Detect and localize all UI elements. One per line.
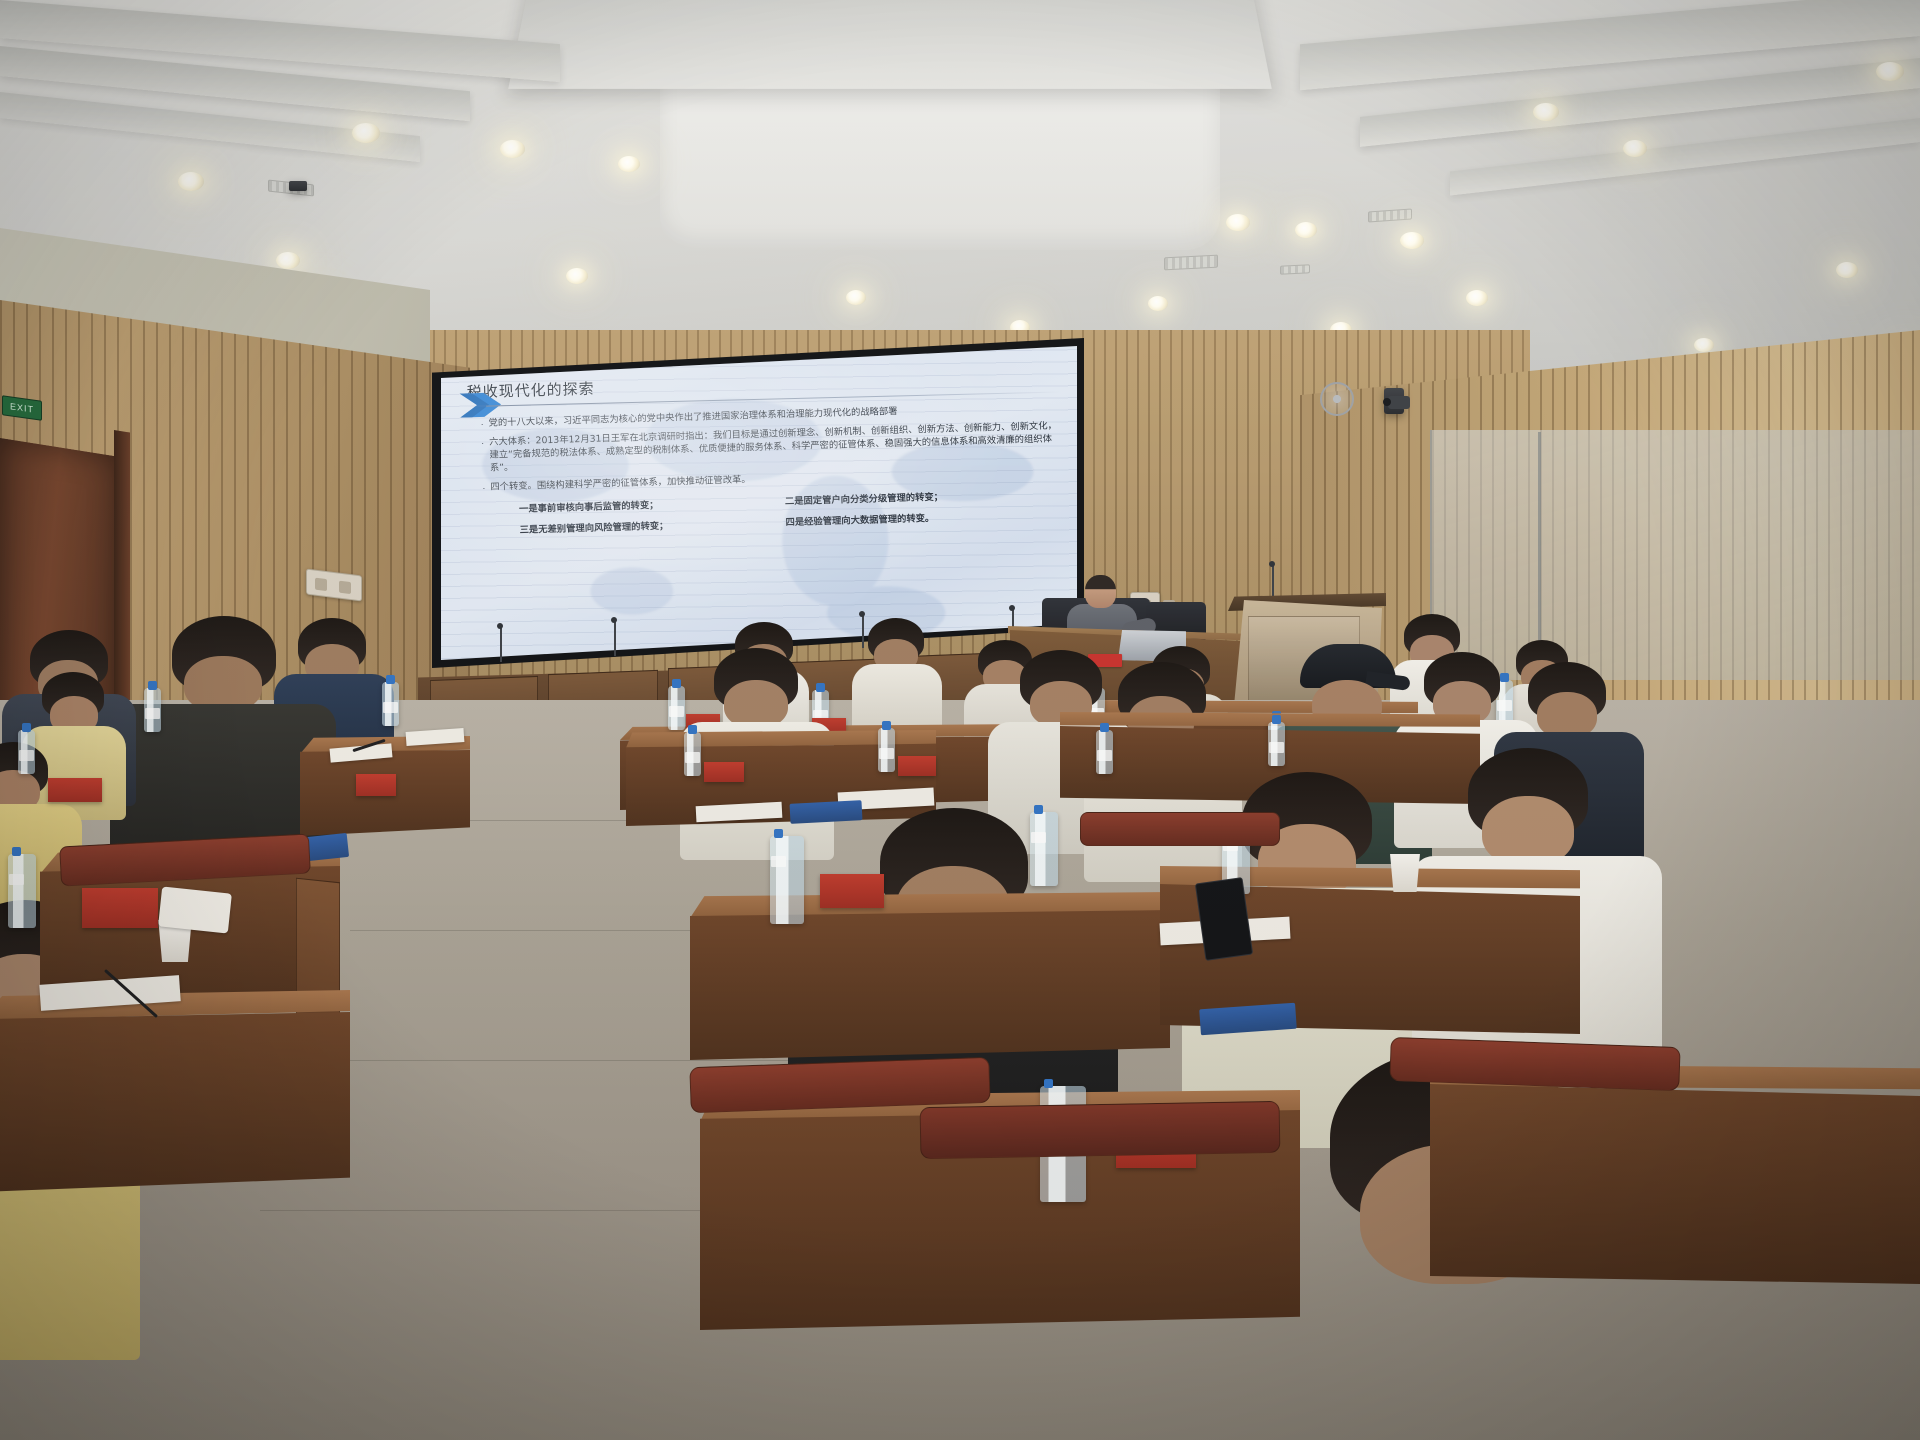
ceiling-vent-far-right bbox=[1280, 264, 1310, 275]
wall-speaker-left bbox=[289, 181, 307, 191]
chair-back-row2[interactable] bbox=[1080, 812, 1280, 846]
name-placard bbox=[704, 762, 744, 782]
chair-back-front-right[interactable] bbox=[920, 1101, 1281, 1159]
bullet-marker: · bbox=[481, 436, 485, 476]
paper-cup bbox=[1388, 854, 1422, 892]
notebook bbox=[790, 800, 863, 824]
downlight-19 bbox=[1876, 62, 1904, 81]
water-bottle bbox=[770, 836, 804, 924]
mic-stand-1 bbox=[500, 628, 502, 662]
right-glass-partition bbox=[1430, 430, 1920, 680]
mic-head-2 bbox=[611, 617, 617, 623]
water-bottle bbox=[382, 682, 399, 726]
mic-head-1 bbox=[497, 623, 503, 629]
downlight-4 bbox=[276, 252, 300, 269]
downlight-1 bbox=[178, 172, 204, 191]
downlight-16 bbox=[1466, 290, 1488, 306]
desk-front-mid-front bbox=[690, 910, 1170, 1060]
mic-head-4 bbox=[1009, 605, 1015, 611]
downlight-8 bbox=[618, 156, 640, 172]
mic-head-podium bbox=[1269, 561, 1275, 567]
conference-room-photo: EXIT 税收现代化的探索 bbox=[0, 0, 1920, 1440]
downlight-7 bbox=[566, 268, 588, 284]
water-bottle bbox=[18, 730, 35, 774]
water-bottle bbox=[1030, 812, 1058, 886]
water-bottle bbox=[668, 686, 685, 730]
downlight-3 bbox=[500, 140, 525, 158]
water-bottle bbox=[8, 854, 36, 928]
slide-body: · 党的十八大以来，习近平同志为核心的党中央作出了推进国家治理体系和治理能力现代… bbox=[480, 400, 1063, 536]
desk-front-left2-front bbox=[0, 1012, 350, 1192]
led-screen[interactable]: 税收现代化的探索 · 党的十八大以来，习近平同志为核心的党中央作出了推进国家治理… bbox=[441, 346, 1077, 660]
water-bottle bbox=[684, 732, 701, 776]
mic-stand-2 bbox=[614, 622, 616, 656]
downlight-2 bbox=[352, 123, 380, 143]
downlight-15 bbox=[1400, 232, 1424, 249]
water-bottle bbox=[1268, 722, 1285, 766]
transition-item-1: 一是事前审核向事后监管的转变； bbox=[519, 494, 751, 515]
name-placard bbox=[48, 778, 102, 802]
desk-bottom-right-front bbox=[1430, 1084, 1920, 1284]
name-placard bbox=[898, 756, 936, 776]
head bbox=[724, 680, 788, 728]
ceiling-vent-right bbox=[1368, 208, 1412, 222]
floor-seam-3 bbox=[310, 1060, 800, 1061]
downlight-18 bbox=[1623, 140, 1647, 157]
slide-transition-list: 一是事前审核向事后监管的转变； 二是固定管户向分类分级管理的转变； 三是无差别管… bbox=[519, 485, 1064, 536]
downlight-17 bbox=[1533, 103, 1559, 121]
ceiling-soffit bbox=[508, 0, 1272, 89]
downlight-11 bbox=[1148, 296, 1168, 311]
bullet-marker: · bbox=[482, 480, 485, 494]
water-bottle bbox=[144, 688, 161, 732]
name-placard bbox=[356, 774, 396, 796]
downlight-12 bbox=[1226, 214, 1250, 231]
downlight-20 bbox=[1836, 262, 1858, 278]
ceiling-vent-center bbox=[1164, 255, 1218, 271]
downlight-13 bbox=[1295, 222, 1317, 238]
name-placard bbox=[82, 888, 158, 928]
water-bottle bbox=[878, 728, 895, 772]
water-bottle bbox=[1096, 730, 1113, 774]
mic-stand-3 bbox=[862, 616, 864, 648]
transition-item-2: 二是固定管户向分类分级管理的转变； bbox=[785, 488, 943, 507]
mic-head-3 bbox=[859, 611, 865, 617]
transition-item-3: 三是无差别管理向风险管理的转变； bbox=[519, 515, 751, 536]
bullet-marker: · bbox=[480, 417, 483, 431]
transition-item-4: 四是经验管理向大数据管理的转变。 bbox=[785, 510, 934, 528]
ceiling-fan-right bbox=[1320, 382, 1354, 416]
bullet-text: 四个转变。围绕构建科学严密的征管体系，加快推动征管改革。 bbox=[490, 473, 751, 494]
downlight-21 bbox=[1694, 338, 1714, 352]
handout-papers bbox=[158, 886, 232, 933]
name-placard bbox=[820, 874, 884, 908]
presentation-slide: 税收现代化的探索 · 党的十八大以来，习近平同志为核心的党中央作出了推进国家治理… bbox=[441, 346, 1077, 660]
presenter-head bbox=[1085, 575, 1116, 608]
security-camera bbox=[1388, 396, 1410, 409]
downlight-9 bbox=[846, 290, 866, 305]
